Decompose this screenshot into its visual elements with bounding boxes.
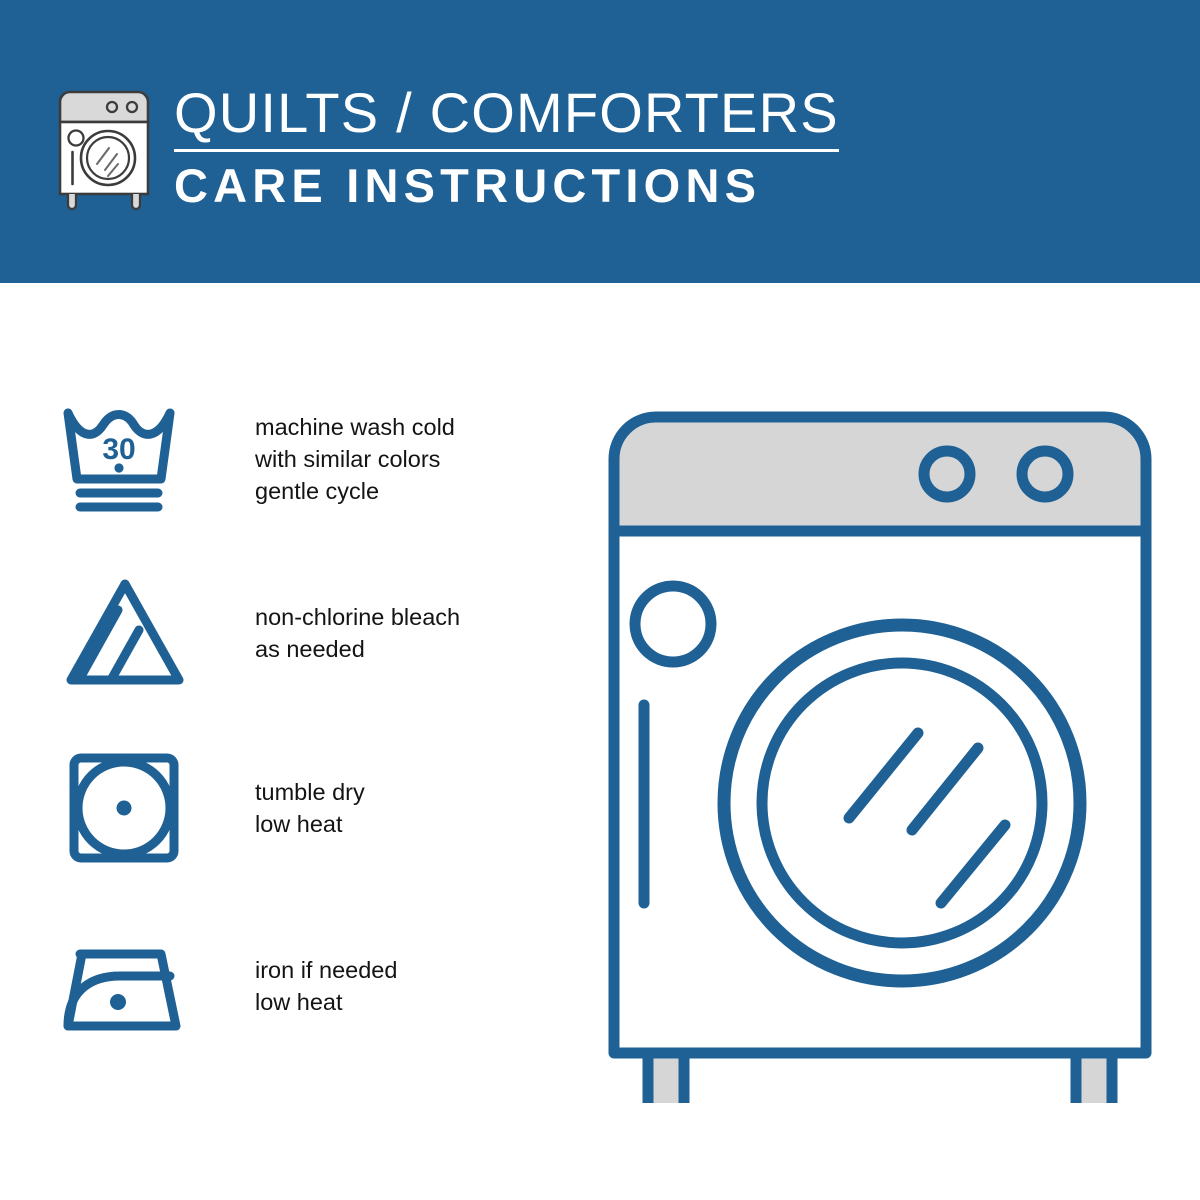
wash-temperature-label: 30 [102,433,135,466]
leg-right [1076,1053,1112,1103]
title-divider [174,149,839,152]
front-load-washing-machine-illustration [600,403,1160,1103]
header-title-group: QUILTS / COMFORTERS CARE INSTRUCTIONS [174,80,839,212]
list-item-label: machine wash cold with similar colors ge… [255,411,455,507]
page-subtitle: CARE INSTRUCTIONS [174,160,839,212]
header-banner: QUILTS / COMFORTERS CARE INSTRUCTIONS [0,0,1200,283]
list-item: non-chlorine bleach as needed [60,576,520,751]
tumble-dry-low-icon [60,751,190,866]
washing-machine-icon [50,80,158,212]
list-item-label: tumble dry low heat [255,776,365,840]
iron-low-heat-icon [60,926,190,1041]
page-title: QUILTS / COMFORTERS [174,82,839,144]
leg-left [648,1053,684,1103]
list-item-label: non-chlorine bleach as needed [255,601,460,665]
list-item-label: iron if needed low heat [255,954,397,1018]
header-content: QUILTS / COMFORTERS CARE INSTRUCTIONS [50,80,839,212]
care-instructions-list: 30 machine wash cold with similar colors… [60,401,520,1101]
non-chlorine-bleach-triangle-icon [60,576,190,691]
list-item: tumble dry low heat [60,751,520,926]
list-item: 30 machine wash cold with similar colors… [60,401,520,576]
content-area: 30 machine wash cold with similar colors… [0,283,1200,1200]
wash-tub-30-gentle-icon: 30 [60,401,190,516]
list-item: iron if needed low heat [60,926,520,1101]
